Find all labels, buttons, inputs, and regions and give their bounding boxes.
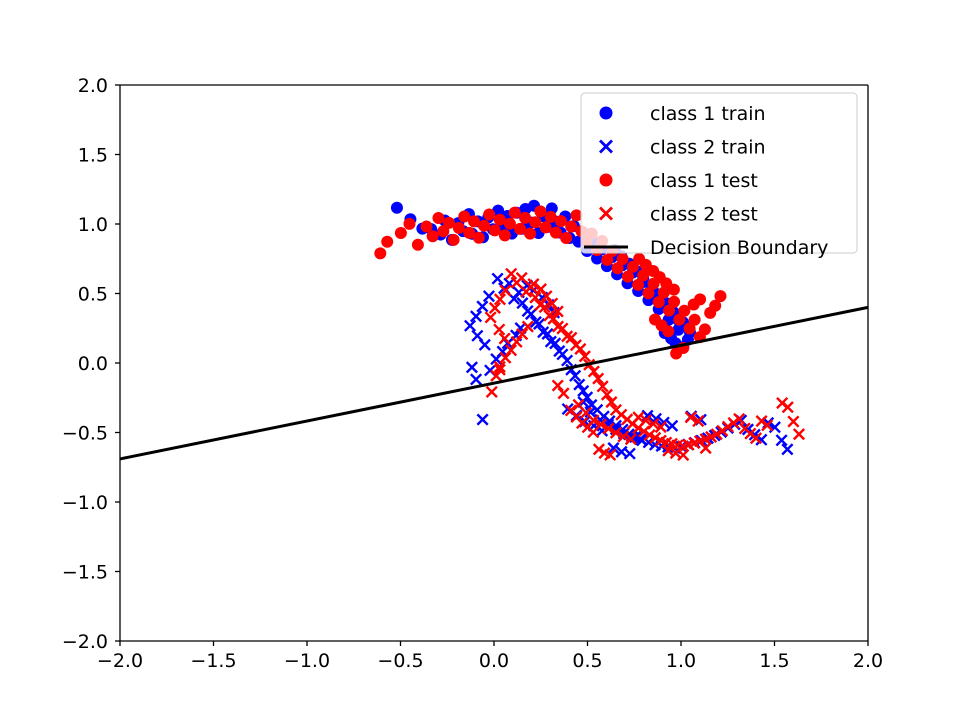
data-point-circle	[555, 215, 567, 227]
y-tick-label: 2.0	[78, 75, 108, 97]
y-tick-label: 0.5	[78, 284, 108, 306]
data-point-circle	[432, 212, 444, 224]
data-point-circle	[545, 211, 557, 223]
data-point-circle	[560, 232, 572, 244]
data-point-circle	[689, 314, 701, 326]
data-point-circle	[374, 247, 386, 259]
data-point-circle	[427, 230, 439, 242]
data-point-circle	[395, 227, 407, 239]
legend[interactable]: class 1 trainclass 2 trainclass 1 testcl…	[581, 93, 857, 259]
legend-label: Decision Boundary	[650, 237, 828, 259]
legend-marker-circle-icon	[600, 174, 613, 187]
x-tick-label: 0.0	[479, 650, 509, 672]
data-point-circle	[617, 253, 629, 265]
scatter-plot: −2.0−1.5−1.0−0.50.00.51.01.52.0 −2.0−1.5…	[0, 0, 960, 720]
y-tick-label: 1.0	[78, 214, 108, 236]
y-tick-label: 1.5	[78, 145, 108, 167]
x-tick-label: −0.5	[377, 650, 423, 672]
y-tick-label: −2.0	[62, 631, 108, 653]
x-axis: −2.0−1.5−1.0−0.50.00.51.01.52.0	[97, 641, 883, 672]
x-tick-label: 1.0	[666, 650, 696, 672]
x-tick-label: −1.0	[284, 650, 330, 672]
x-tick-label: −2.0	[97, 650, 143, 672]
data-point-circle	[565, 221, 577, 233]
legend-marker-circle-icon	[600, 107, 613, 120]
data-point-circle	[381, 236, 393, 248]
data-point-circle	[699, 323, 711, 335]
data-point-circle	[519, 212, 531, 224]
y-tick-label: 0.0	[78, 353, 108, 375]
x-tick-label: 2.0	[853, 650, 883, 672]
data-point-circle	[448, 234, 460, 246]
legend-label: class 2 train	[650, 137, 766, 159]
data-point-circle	[534, 205, 546, 217]
data-point-circle	[540, 221, 552, 233]
y-axis: −2.0−1.5−1.0−0.50.00.51.01.52.0	[62, 75, 120, 653]
y-tick-label: −1.0	[62, 492, 108, 514]
data-point-circle	[524, 228, 536, 240]
legend-label: class 2 test	[650, 204, 758, 226]
data-point-circle	[478, 220, 490, 232]
data-point-circle	[412, 239, 424, 251]
data-point-circle	[453, 222, 465, 234]
legend-label: class 1 test	[650, 170, 758, 192]
data-point-circle	[483, 209, 495, 221]
data-point-circle	[509, 207, 521, 219]
x-tick-label: 0.5	[572, 650, 602, 672]
data-point-circle	[649, 313, 661, 325]
x-tick-label: 1.5	[759, 650, 789, 672]
data-point-circle	[668, 296, 680, 308]
data-point-circle	[550, 227, 562, 239]
y-tick-label: −1.5	[62, 562, 108, 584]
data-point-circle	[633, 253, 645, 265]
data-point-circle	[499, 229, 511, 241]
data-point-circle	[391, 202, 403, 214]
data-point-circle	[670, 348, 682, 360]
x-tick-label: −1.5	[190, 650, 236, 672]
data-point-circle	[529, 216, 541, 228]
data-point-circle	[403, 218, 415, 230]
data-point-circle	[473, 232, 485, 244]
y-tick-label: −0.5	[62, 423, 108, 445]
figure-canvas: −2.0−1.5−1.0−0.50.00.51.01.52.0 −2.0−1.5…	[0, 0, 960, 720]
legend-label: class 1 train	[650, 103, 766, 125]
data-point-circle	[694, 293, 706, 305]
data-point-circle	[714, 290, 726, 302]
